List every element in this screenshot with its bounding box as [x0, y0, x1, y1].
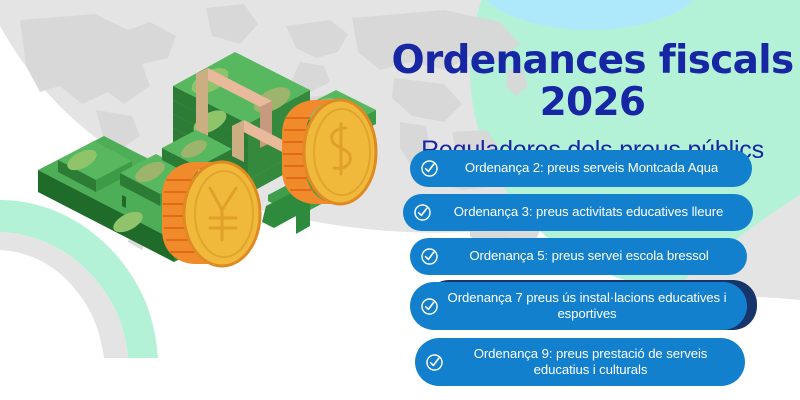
check-circle-icon: [420, 159, 439, 178]
content-column: Ordenances fiscals 2026 Reguladores dels…: [385, 0, 800, 400]
list-item-ordinance-9[interactable]: Ordenança 9: preus prestació de serveis …: [415, 338, 745, 386]
list-item-ordinance-2[interactable]: Ordenança 2: preus serveis Montcada Aqua: [410, 150, 752, 187]
check-circle-icon: [413, 203, 432, 222]
money-stacks-and-coins-illustration: [10, 30, 400, 280]
list-item-ordinance-5[interactable]: Ordenança 5: preus servei escola bressol: [410, 238, 747, 275]
check-circle-icon: [420, 297, 439, 316]
check-circle-icon: [420, 247, 439, 266]
page-title-line-2: 2026: [385, 82, 800, 124]
list-item-label: Ordenança 2: preus serveis Montcada Aqua: [445, 160, 738, 177]
page-title: Ordenances fiscals 2026: [385, 40, 800, 124]
gold-coin-yen: [162, 162, 260, 266]
gold-coin-dollar: [282, 100, 376, 204]
poster-canvas: Ordenances fiscals 2026 Reguladores dels…: [0, 0, 800, 400]
list-item-ordinance-7[interactable]: Ordenança 7 preus ús instal·lacions educ…: [410, 282, 747, 330]
list-item-label: Ordenança 9: preus prestació de serveis …: [450, 346, 731, 379]
list-item-label: Ordenança 5: preus servei escola bressol: [445, 248, 733, 265]
list-item-ordinance-3[interactable]: Ordenança 3: preus activitats educatives…: [403, 194, 753, 231]
list-item-label: Ordenança 7 preus ús instal·lacions educ…: [445, 290, 733, 323]
money-illustration-svg: [10, 30, 400, 280]
list-item-label: Ordenança 3: preus activitats educatives…: [438, 204, 739, 221]
page-title-line-1: Ordenances fiscals: [392, 38, 794, 83]
check-circle-icon: [425, 353, 444, 372]
